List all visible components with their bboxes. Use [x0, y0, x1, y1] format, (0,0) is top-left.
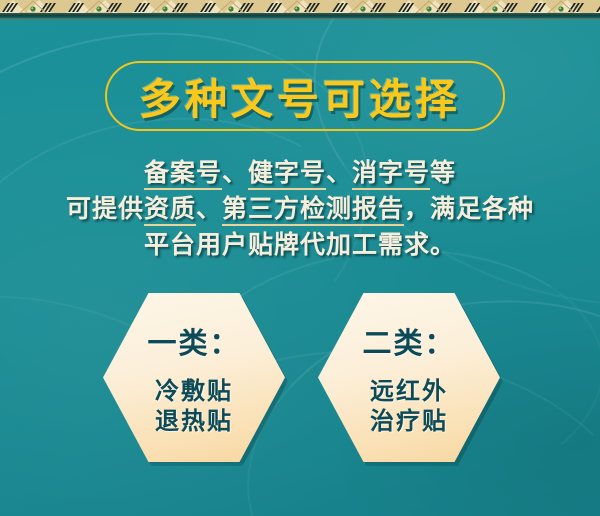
ornament-underline — [0, 13, 600, 18]
doc-type-jianzi: 健字号 — [248, 158, 326, 190]
doc-type-beian: 备案号 — [144, 158, 222, 190]
doc-type-xiaozi: 消字号 — [352, 158, 430, 190]
line2-head: 可提供 — [66, 194, 144, 223]
top-ornament-border — [0, 0, 600, 18]
description-line-3: 平台用户贴牌代加工需求。 — [0, 227, 600, 263]
qualification-term: 资质 — [144, 194, 196, 226]
page-title: 多种文号可选择 — [0, 61, 600, 131]
sep-1a: 、 — [222, 158, 248, 187]
category-1-item-2: 退热贴 — [155, 406, 233, 436]
category-1-item-1: 冷敷贴 — [155, 376, 233, 406]
line1-tail: 等 — [430, 158, 456, 187]
poster-canvas: 多种文号可选择 备案号、健字号、消字号等 可提供资质、第三方检测报告，满足各种 … — [0, 0, 600, 516]
description-block: 备案号、健字号、消字号等 可提供资质、第三方检测报告，满足各种 平台用户贴牌代加… — [0, 155, 600, 263]
third-party-report-term: 第三方检测报告 — [222, 194, 404, 226]
category-2-item-2: 治疗贴 — [370, 406, 448, 436]
description-line-1: 备案号、健字号、消字号等 — [0, 155, 600, 191]
sep-1b: 、 — [326, 158, 352, 187]
category-2-item-1: 远红外 — [370, 376, 448, 406]
category-2-heading: 二类： — [362, 320, 455, 362]
description-line-2: 可提供资质、第三方检测报告，满足各种 — [0, 191, 600, 227]
line2-tail: ，满足各种 — [404, 194, 534, 223]
cloud-band-pattern-icon — [0, 0, 600, 13]
sep-2a: 、 — [196, 194, 222, 223]
category-1-heading: 一类： — [147, 320, 240, 362]
